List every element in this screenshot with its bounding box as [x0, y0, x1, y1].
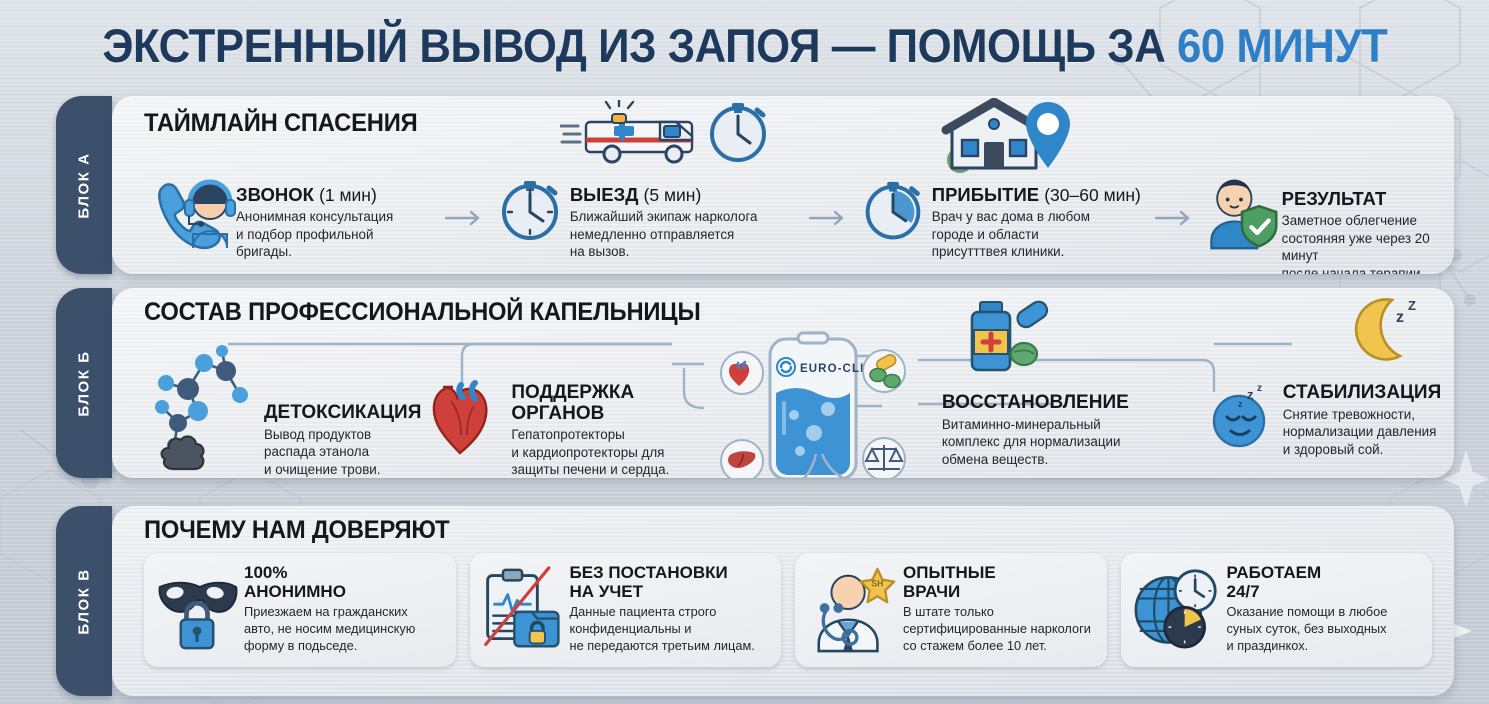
stopwatch-icon	[854, 144, 932, 250]
timeline-step-title: ВЫЕЗД	[570, 184, 639, 205]
timeline-step-body: Врач у вас дома в любом городе и области…	[932, 208, 1141, 261]
trust-card-head: РАБОТАЕМ 24/7	[1227, 564, 1388, 601]
ambulance-icon	[560, 100, 770, 170]
clipboard-crossed-icon	[480, 566, 566, 652]
block-a-steps: ЗВОНОК (1 мин) Анонимная консультация и …	[144, 144, 1454, 274]
page-title-accent: 60 МИНУТ	[1177, 19, 1387, 72]
trust-card-body: Приезжаем на гражданских авто, не носим …	[244, 604, 415, 654]
molecule-icon	[144, 331, 264, 475]
sleeping-face-icon: z z z	[1207, 331, 1279, 451]
infusion-item[interactable]: ПОДДЕРЖКА ОРГАНОВ Гепатопротекторы и кар…	[431, 331, 696, 478]
trust-card-head: ОПЫТНЫЕ ВРАЧИ	[903, 564, 1091, 601]
trust-card-text: РАБОТАЕМ 24/7 Оказание помощи в любое су…	[1223, 564, 1388, 654]
svg-text:z: z	[1257, 383, 1262, 394]
page-title-main: ЭКСТРЕННЫЙ ВЫВОД ИЗ ЗАПОЯ — ПОМОЩЬ ЗА	[102, 19, 1177, 72]
svg-text:SH: SH	[871, 579, 883, 589]
timeline-step-body: Заметное облегчение состояняя уже через …	[1282, 212, 1454, 274]
trust-card-body: В штате только сертифицированные нарколо…	[903, 604, 1091, 654]
block-c-tab[interactable]: БЛОК В	[56, 506, 112, 696]
svg-text:z: z	[1238, 399, 1243, 409]
trust-card[interactable]: БЕЗ ПОСТАНОВКИ НА УЧЕТ Данные пациента с…	[470, 553, 782, 667]
block-c-title: ПОЧЕМУ НАМ ДОВЕРЯЮТ	[144, 516, 1389, 545]
infusion-item[interactable]: ДЕТОКСИКАЦИЯ Вывод продуктов распада эта…	[144, 331, 421, 478]
trust-card-body: Оказание помощи в любое суных суток, без…	[1227, 604, 1388, 654]
timeline-step-note: (5 мин)	[644, 185, 702, 205]
infusion-item-body: Гепатопротекторы и кардиопротекторы для …	[511, 426, 669, 478]
phone-headset-icon	[144, 144, 236, 252]
timeline-step-title: РЕЗУЛЬТАТ	[1282, 188, 1387, 209]
trust-card-text: БЕЗ ПОСТАНОВКИ НА УЧЕТ Данные пациента с…	[566, 564, 755, 654]
block-b: БЛОК Б СОСТАВ ПРОФЕССИОНАЛЬНОЙ КАПЕЛЬНИЦ…	[56, 288, 1454, 478]
heart-icon	[431, 331, 505, 459]
trust-card-text: ОПЫТНЫЕ ВРАЧИ В штате только сертифициро…	[899, 564, 1091, 654]
timeline-step-note: (1 мин)	[319, 185, 377, 205]
page-title: ЭКСТРЕННЫЙ ВЫВОД ИЗ ЗАПОЯ — ПОМОЩЬ ЗА 60…	[102, 18, 1387, 73]
block-c: БЛОК В ПОЧЕМУ НАМ ДОВЕРЯЮТ 10	[56, 506, 1454, 696]
heart-small-icon	[721, 352, 763, 394]
patient-shield-icon	[1200, 144, 1282, 252]
trust-card[interactable]: 100% АНОНИМНО Приезжаем на гражданских а…	[144, 553, 456, 667]
globe-clock-icon	[1131, 566, 1223, 652]
moon-zzz-icon: z Z	[1344, 294, 1426, 370]
block-c-panel: ПОЧЕМУ НАМ ДОВЕРЯЮТ 100% АНОНИМНО	[112, 506, 1454, 696]
timeline-step-body: Ближайший экипаж нарколога немедленно от…	[570, 208, 758, 261]
timeline-step[interactable]: РЕЗУЛЬТАТ Заметное облегчение состояняя …	[1200, 144, 1454, 274]
infusion-item-head: ВОССТАНОВЛЕНИЕ	[942, 393, 1129, 414]
timeline-step-body: Анонимная консультация и подбор профильн…	[236, 208, 393, 261]
svg-text:z: z	[1247, 387, 1254, 402]
infusion-item-body: Вывод продуктов распада этанола и очищен…	[264, 426, 421, 478]
doctor-star-icon: SH	[805, 565, 899, 653]
infusion-item-head: ДЕТОКСИКАЦИЯ	[264, 403, 421, 424]
arrow-right-icon	[808, 144, 854, 226]
house-pin-icon	[938, 98, 1078, 176]
infusion-item-head: СТАБИЛИЗАЦИЯ	[1283, 383, 1442, 404]
timeline-step-head: ВЫЕЗД (5 мин)	[570, 184, 758, 206]
timeline-step-text: РЕЗУЛЬТАТ Заметное облегчение состояняя …	[1282, 144, 1454, 274]
timeline-step-title: ЗВОНОК	[236, 184, 314, 205]
timeline-step-head: РЕЗУЛЬТАТ	[1282, 188, 1454, 210]
arrow-right-icon	[444, 144, 490, 226]
trust-card[interactable]: РАБОТАЕМ 24/7 Оказание помощи в любое су…	[1121, 553, 1433, 667]
infusion-item-body: Снятие тревожности, нормализации давлени…	[1283, 406, 1442, 459]
trust-card-head: БЕЗ ПОСТАНОВКИ НА УЧЕТ	[570, 564, 755, 601]
block-a-tab[interactable]: БЛОК А	[56, 96, 112, 274]
block-b-title: СОСТАВ ПРОФЕССИОНАЛЬНОЙ КАПЕЛЬНИЦЫ	[144, 298, 1389, 327]
timeline-step[interactable]: ЗВОНОК (1 мин) Анонимная консультация и …	[144, 144, 444, 261]
timeline-step-head: ЗВОНОК (1 мин)	[236, 184, 393, 206]
svg-text:z: z	[1396, 309, 1404, 326]
trust-card-text: 100% АНОНИМНО Приезжаем на гражданских а…	[240, 564, 415, 654]
timeline-step-text: ЗВОНОК (1 мин) Анонимная консультация и …	[236, 144, 393, 261]
block-a: БЛОК А ТАЙМЛАЙН СПАСЕНИЯ	[56, 96, 1454, 274]
timeline-step-head: ПРИБЫТИЕ (30–60 мин)	[932, 184, 1141, 206]
block-a-panel: ТАЙМЛАЙН СПАСЕНИЯ	[112, 96, 1454, 274]
trust-card-head: 100% АНОНИМНО	[244, 564, 415, 601]
block-b-tab[interactable]: БЛОК Б	[56, 288, 112, 478]
page-header: ЭКСТРЕННЫЙ ВЫВОД ИЗ ЗАПОЯ — ПОМОЩЬ ЗА 60…	[0, 0, 1489, 84]
trust-card-body: Данные пациента строго конфиденциальны и…	[570, 604, 755, 654]
pills-icon	[863, 350, 905, 392]
block-a-tab-label: БЛОК А	[76, 152, 93, 218]
block-b-tab-label: БЛОК Б	[76, 350, 93, 416]
timeline-step-title: ПРИБЫТИЕ	[932, 184, 1039, 205]
block-b-panel: СОСТАВ ПРОФЕССИОНАЛЬНОЙ КАПЕЛЬНИЦЫ	[112, 288, 1454, 478]
ambulance-stopwatch-icon	[490, 144, 570, 250]
arrow-right-icon	[1154, 144, 1200, 226]
trust-cards: 100% АНОНИМНО Приезжаем на гражданских а…	[144, 553, 1454, 667]
infusion-item-body: Витаминно-минеральный комплекс для норма…	[942, 416, 1129, 469]
mask-lock-icon	[154, 566, 240, 652]
svg-text:Z: Z	[1408, 298, 1416, 313]
timeline-step-note: (30–60 мин)	[1044, 185, 1141, 205]
block-c-tab-label: БЛОК В	[76, 568, 93, 634]
drip-tube	[712, 454, 912, 478]
vitamins-icon	[960, 300, 1070, 384]
trust-card[interactable]: SH ОПЫТНЫЕ ВРАЧИ В штате только сертифиц…	[795, 553, 1107, 667]
infusion-item-head: ПОДДЕРЖКА ОРГАНОВ	[511, 383, 669, 424]
